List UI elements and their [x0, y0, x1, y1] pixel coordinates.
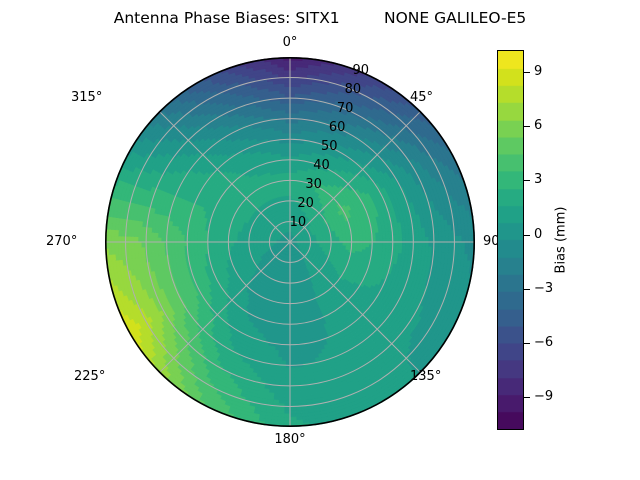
colorbar-label: Bias (mm) [554, 207, 569, 274]
colorbar-tick-label: −6 [534, 336, 553, 350]
colorbar[interactable]: 9630−3−6−9 Bias (mm) [497, 50, 617, 430]
angular-tick-315: 315° [71, 90, 102, 105]
colorbar-tick-label: −3 [534, 282, 553, 296]
colorbar-tick-label: 3 [534, 173, 542, 187]
colorbar-tick-mark [524, 180, 530, 181]
colorbar-tick-mark [524, 126, 530, 127]
angular-tick-180: 180° [105, 432, 475, 447]
radial-tick-label: 40 [313, 159, 330, 173]
angular-tick-135: 135° [410, 369, 441, 384]
page-title: Antenna Phase Biases: SITX1 NONE GALILEO… [0, 8, 640, 28]
colorbar-tick-mark [524, 72, 530, 73]
radial-tick-label: 10 [290, 216, 307, 230]
angular-tick-45: 45° [410, 90, 433, 105]
angular-tick-225: 225° [74, 369, 105, 384]
colorbar-tick-label: 6 [534, 119, 542, 133]
colorbar-tick-label: −9 [534, 390, 553, 404]
radial-tick-label: 70 [337, 102, 354, 116]
colorbar-tick-mark [524, 289, 530, 290]
colorbar-tick-mark [524, 235, 530, 236]
colorbar-tick-label: 9 [534, 65, 542, 79]
polar-axes[interactable]: 0° 45° 90 135° 180° 225° 270° 315° 10203… [105, 57, 475, 427]
radial-tick-label: 50 [321, 140, 338, 154]
colorbar-tick-mark [524, 343, 530, 344]
radial-tick-label: 90 [353, 64, 370, 78]
colorbar-gradient[interactable] [497, 50, 524, 430]
radial-tick-label: 60 [329, 121, 346, 135]
angular-tick-270: 270° [46, 234, 77, 249]
radial-tick-label: 30 [305, 178, 322, 192]
radial-tick-label: 20 [297, 197, 314, 211]
angular-tick-0: 0° [105, 35, 475, 50]
colorbar-tick-mark [524, 397, 530, 398]
radial-tick-label: 80 [345, 83, 362, 97]
colorbar-tick-label: 0 [534, 228, 542, 242]
